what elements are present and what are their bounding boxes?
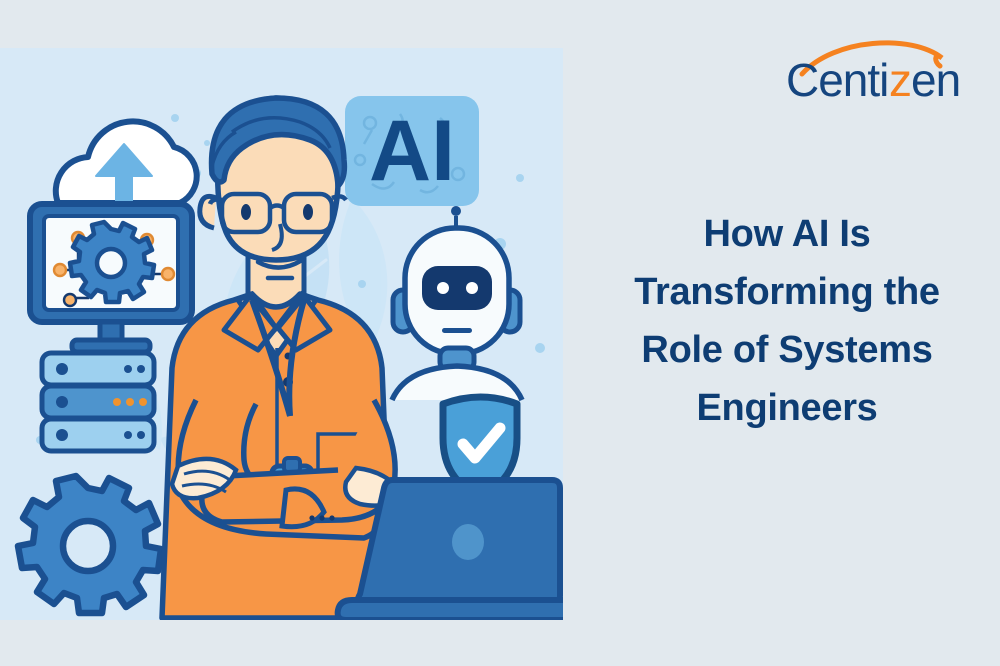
headline-line-3: Role of Systems (588, 321, 986, 379)
page-title: How AI Is Transforming the Role of Syste… (588, 205, 986, 438)
ai-badge-label: AI (369, 103, 455, 199)
illustration-artwork: AI (0, 48, 563, 620)
article-header-graphic: AI (0, 0, 1000, 666)
headline-line-1: How AI Is (588, 205, 986, 263)
headline-line-4: Engineers (588, 379, 986, 437)
headline-line-2: Transforming the (588, 263, 986, 321)
logo-text-centi: Centi (786, 54, 888, 102)
ai-badge: AI (345, 96, 479, 206)
illustration-panel: AI (0, 48, 563, 620)
logo-text-z: z (889, 54, 911, 102)
server-stack-icon (42, 353, 154, 451)
logo-text-en: en (911, 54, 960, 102)
brand-logo[interactable]: Centi z en (784, 40, 964, 102)
centizen-logo-mark: Centi z en (784, 40, 964, 102)
